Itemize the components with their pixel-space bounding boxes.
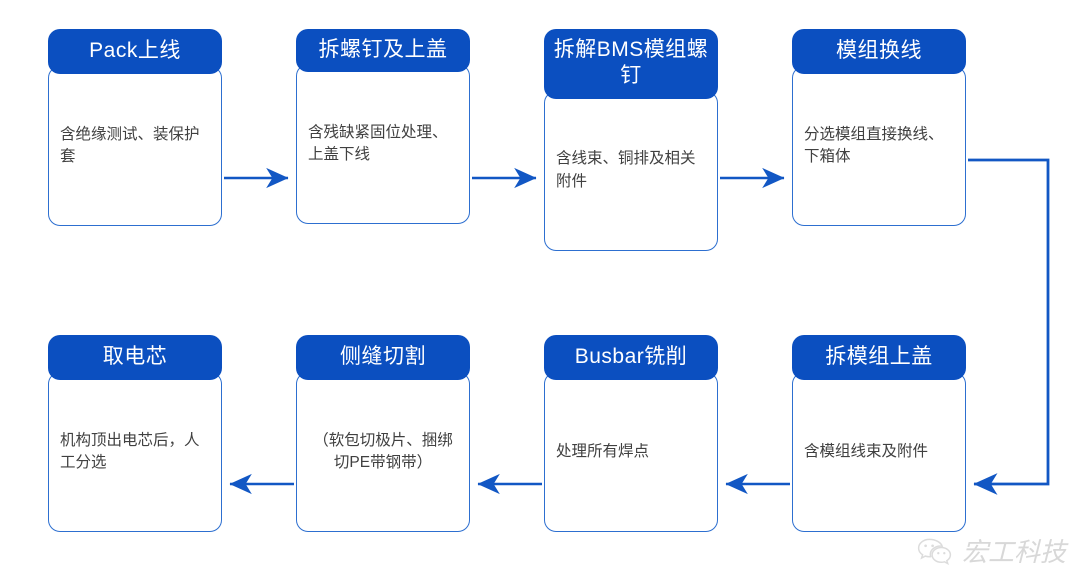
flowchart-canvas: Pack上线 含绝缘测试、装保护套 拆螺钉及上盖 含残缺紧固位处理、上盖下线 拆… xyxy=(0,0,1080,587)
node-body-text: 处理所有焊点 xyxy=(556,441,706,463)
node-take-cell[interactable]: 取电芯 机构顶出电芯后，人工分选 xyxy=(48,335,222,532)
node-body-disassemble-bms-screws: 含线束、铜排及相关附件 xyxy=(544,91,718,251)
node-header-module-line-change: 模组换线 xyxy=(792,29,966,74)
node-body-module-line-change: 分选模组直接换线、下箱体 xyxy=(792,66,966,226)
node-body-text: 含残缺紧固位处理、上盖下线 xyxy=(308,122,458,167)
node-body-busbar-milling: 处理所有焊点 xyxy=(544,372,718,532)
node-body-remove-screws-cover: 含残缺紧固位处理、上盖下线 xyxy=(296,64,470,224)
node-header-remove-module-cover: 拆模组上盖 xyxy=(792,335,966,380)
node-pack-online[interactable]: Pack上线 含绝缘测试、装保护套 xyxy=(48,29,222,226)
node-body-text: 含绝缘测试、装保护套 xyxy=(60,124,210,169)
node-disassemble-bms-screws[interactable]: 拆解BMS模组螺钉 含线束、铜排及相关附件 xyxy=(544,29,718,251)
node-header-busbar-milling: Busbar铣削 xyxy=(544,335,718,380)
node-remove-screws-cover[interactable]: 拆螺钉及上盖 含残缺紧固位处理、上盖下线 xyxy=(296,29,470,224)
node-body-text: （软包切极片、捆绑切PE带钢带） xyxy=(308,430,458,475)
node-header-take-cell: 取电芯 xyxy=(48,335,222,380)
node-body-text: 机构顶出电芯后，人工分选 xyxy=(60,430,210,475)
node-body-remove-module-cover: 含模组线束及附件 xyxy=(792,372,966,532)
node-remove-module-cover[interactable]: 拆模组上盖 含模组线束及附件 xyxy=(792,335,966,532)
node-body-text: 含模组线束及附件 xyxy=(804,441,954,463)
node-body-text: 分选模组直接换线、下箱体 xyxy=(804,124,954,169)
node-body-take-cell: 机构顶出电芯后，人工分选 xyxy=(48,372,222,532)
node-header-side-seam-cutting: 侧缝切割 xyxy=(296,335,470,380)
watermark: 宏工科技 xyxy=(917,532,1066,569)
node-busbar-milling[interactable]: Busbar铣削 处理所有焊点 xyxy=(544,335,718,532)
node-body-pack-online: 含绝缘测试、装保护套 xyxy=(48,66,222,226)
node-header-disassemble-bms-screws: 拆解BMS模组螺钉 xyxy=(544,29,718,99)
wechat-icon xyxy=(917,537,955,565)
node-header-remove-screws-cover: 拆螺钉及上盖 xyxy=(296,29,470,72)
node-header-pack-online: Pack上线 xyxy=(48,29,222,74)
watermark-text: 宏工科技 xyxy=(962,532,1066,569)
node-body-text: 含线束、铜排及相关附件 xyxy=(556,148,706,193)
arrow-module-wrap-to-cover xyxy=(968,160,1048,484)
node-body-side-seam-cutting: （软包切极片、捆绑切PE带钢带） xyxy=(296,372,470,532)
node-side-seam-cutting[interactable]: 侧缝切割 （软包切极片、捆绑切PE带钢带） xyxy=(296,335,470,532)
node-module-line-change[interactable]: 模组换线 分选模组直接换线、下箱体 xyxy=(792,29,966,226)
